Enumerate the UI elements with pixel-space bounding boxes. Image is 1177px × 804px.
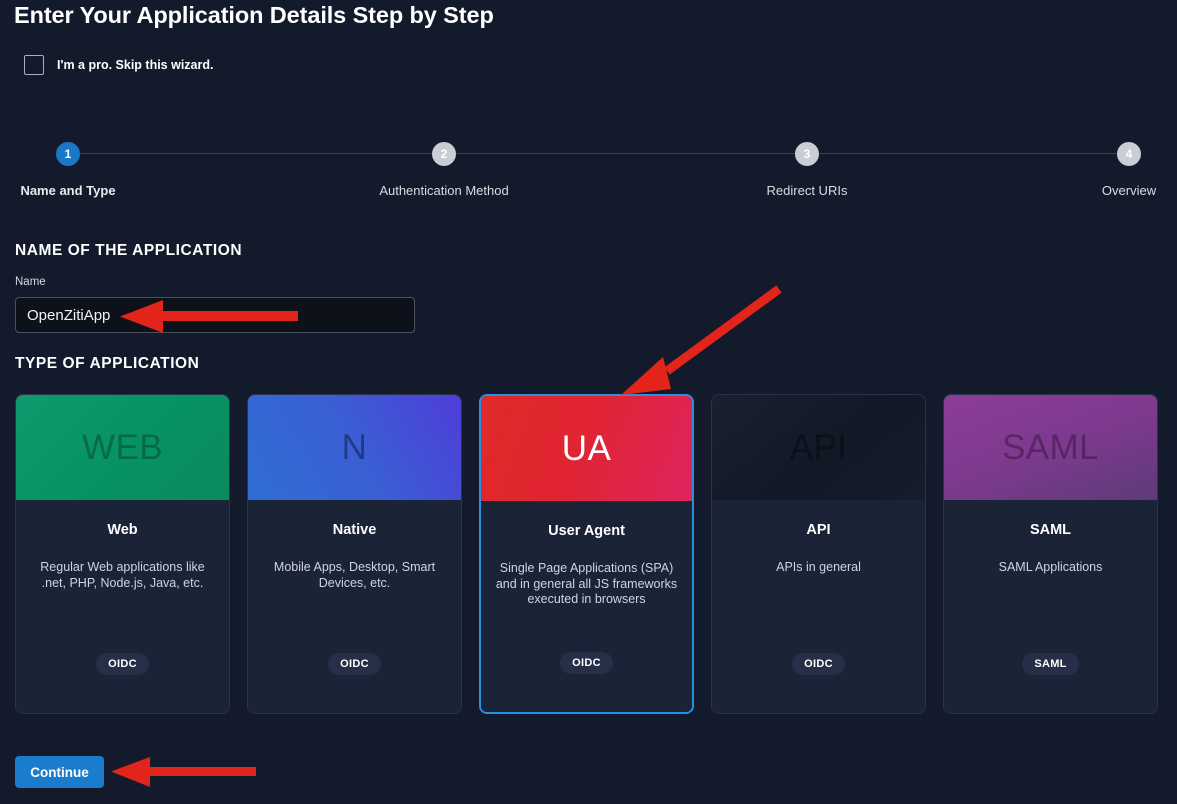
stepper-step-2-number[interactable]: 2 bbox=[432, 142, 456, 166]
app-type-title-web: Web bbox=[107, 522, 137, 538]
stepper-step-1-label: Name and Type bbox=[0, 183, 138, 198]
continue-button[interactable]: Continue bbox=[15, 756, 104, 788]
wizard-page: Enter Your Application Details Step by S… bbox=[0, 0, 1177, 804]
app-type-card-saml[interactable]: SAML SAML SAML Applications SAML bbox=[943, 394, 1158, 714]
skip-wizard-label: I'm a pro. Skip this wizard. bbox=[57, 58, 213, 72]
app-type-card-web[interactable]: WEB Web Regular Web applications like .n… bbox=[15, 394, 230, 714]
stepper-step-3-label: Redirect URIs bbox=[737, 183, 877, 198]
app-type-badge-native: OIDC bbox=[328, 653, 381, 675]
annotation-arrow-to-user-agent-card bbox=[615, 283, 785, 401]
app-type-card-native[interactable]: N Native Mobile Apps, Desktop, Smart Dev… bbox=[247, 394, 462, 714]
name-section-heading: NAME OF THE APPLICATION bbox=[15, 242, 242, 260]
application-name-input[interactable] bbox=[15, 297, 415, 333]
app-type-title-user-agent: User Agent bbox=[548, 523, 625, 539]
app-type-description-saml: SAML Applications bbox=[999, 560, 1103, 576]
app-type-body-api: API APIs in general OIDC bbox=[712, 500, 925, 713]
app-type-description-api: APIs in general bbox=[776, 560, 861, 576]
app-type-badge-api: OIDC bbox=[792, 653, 845, 675]
app-type-glyph-native: N bbox=[248, 395, 461, 500]
app-type-body-saml: SAML SAML Applications SAML bbox=[944, 500, 1157, 713]
app-type-body-native: Native Mobile Apps, Desktop, Smart Devic… bbox=[248, 500, 461, 713]
app-type-badge-web: OIDC bbox=[96, 653, 149, 675]
wizard-stepper: 1 Name and Type 2 Authentication Method … bbox=[0, 130, 1177, 210]
app-type-card-api[interactable]: API API APIs in general OIDC bbox=[711, 394, 926, 714]
skip-wizard-row[interactable]: I'm a pro. Skip this wizard. bbox=[24, 55, 213, 75]
app-type-description-web: Regular Web applications like .net, PHP,… bbox=[28, 560, 217, 591]
stepper-step-redirect-uris[interactable]: 3 Redirect URIs bbox=[737, 130, 877, 198]
app-type-description-user-agent: Single Page Applications (SPA) and in ge… bbox=[493, 561, 680, 608]
stepper-step-authentication-method[interactable]: 2 Authentication Method bbox=[374, 130, 514, 198]
stepper-step-1-number[interactable]: 1 bbox=[56, 142, 80, 166]
skip-wizard-checkbox[interactable] bbox=[24, 55, 44, 75]
app-type-title-api: API bbox=[806, 522, 830, 538]
stepper-step-4-number[interactable]: 4 bbox=[1117, 142, 1141, 166]
app-type-description-native: Mobile Apps, Desktop, Smart Devices, etc… bbox=[260, 560, 449, 591]
app-type-body-user-agent: User Agent Single Page Applications (SPA… bbox=[481, 501, 692, 712]
app-type-badge-user-agent: OIDC bbox=[560, 652, 613, 674]
app-type-body-web: Web Regular Web applications like .net, … bbox=[16, 500, 229, 713]
type-section-heading: TYPE OF APPLICATION bbox=[15, 355, 199, 373]
app-type-title-saml: SAML bbox=[1030, 522, 1071, 538]
app-type-glyph-saml: SAML bbox=[944, 395, 1157, 500]
app-type-glyph-user-agent: UA bbox=[481, 396, 692, 501]
application-type-cards: WEB Web Regular Web applications like .n… bbox=[15, 394, 1163, 714]
stepper-step-2-label: Authentication Method bbox=[374, 183, 514, 198]
app-type-glyph-api: API bbox=[712, 395, 925, 500]
app-type-glyph-web: WEB bbox=[16, 395, 229, 500]
app-type-card-user-agent[interactable]: UA User Agent Single Page Applications (… bbox=[479, 394, 694, 714]
name-field-label: Name bbox=[15, 276, 46, 288]
app-type-badge-saml: SAML bbox=[1022, 653, 1078, 675]
annotation-arrow-to-continue-button bbox=[108, 756, 256, 790]
stepper-step-3-number[interactable]: 3 bbox=[795, 142, 819, 166]
app-type-title-native: Native bbox=[333, 522, 377, 538]
stepper-step-name-and-type[interactable]: 1 Name and Type bbox=[0, 130, 138, 198]
stepper-step-4-label: Overview bbox=[1059, 183, 1177, 198]
page-title: Enter Your Application Details Step by S… bbox=[14, 2, 494, 29]
stepper-step-overview[interactable]: 4 Overview bbox=[1059, 130, 1177, 198]
